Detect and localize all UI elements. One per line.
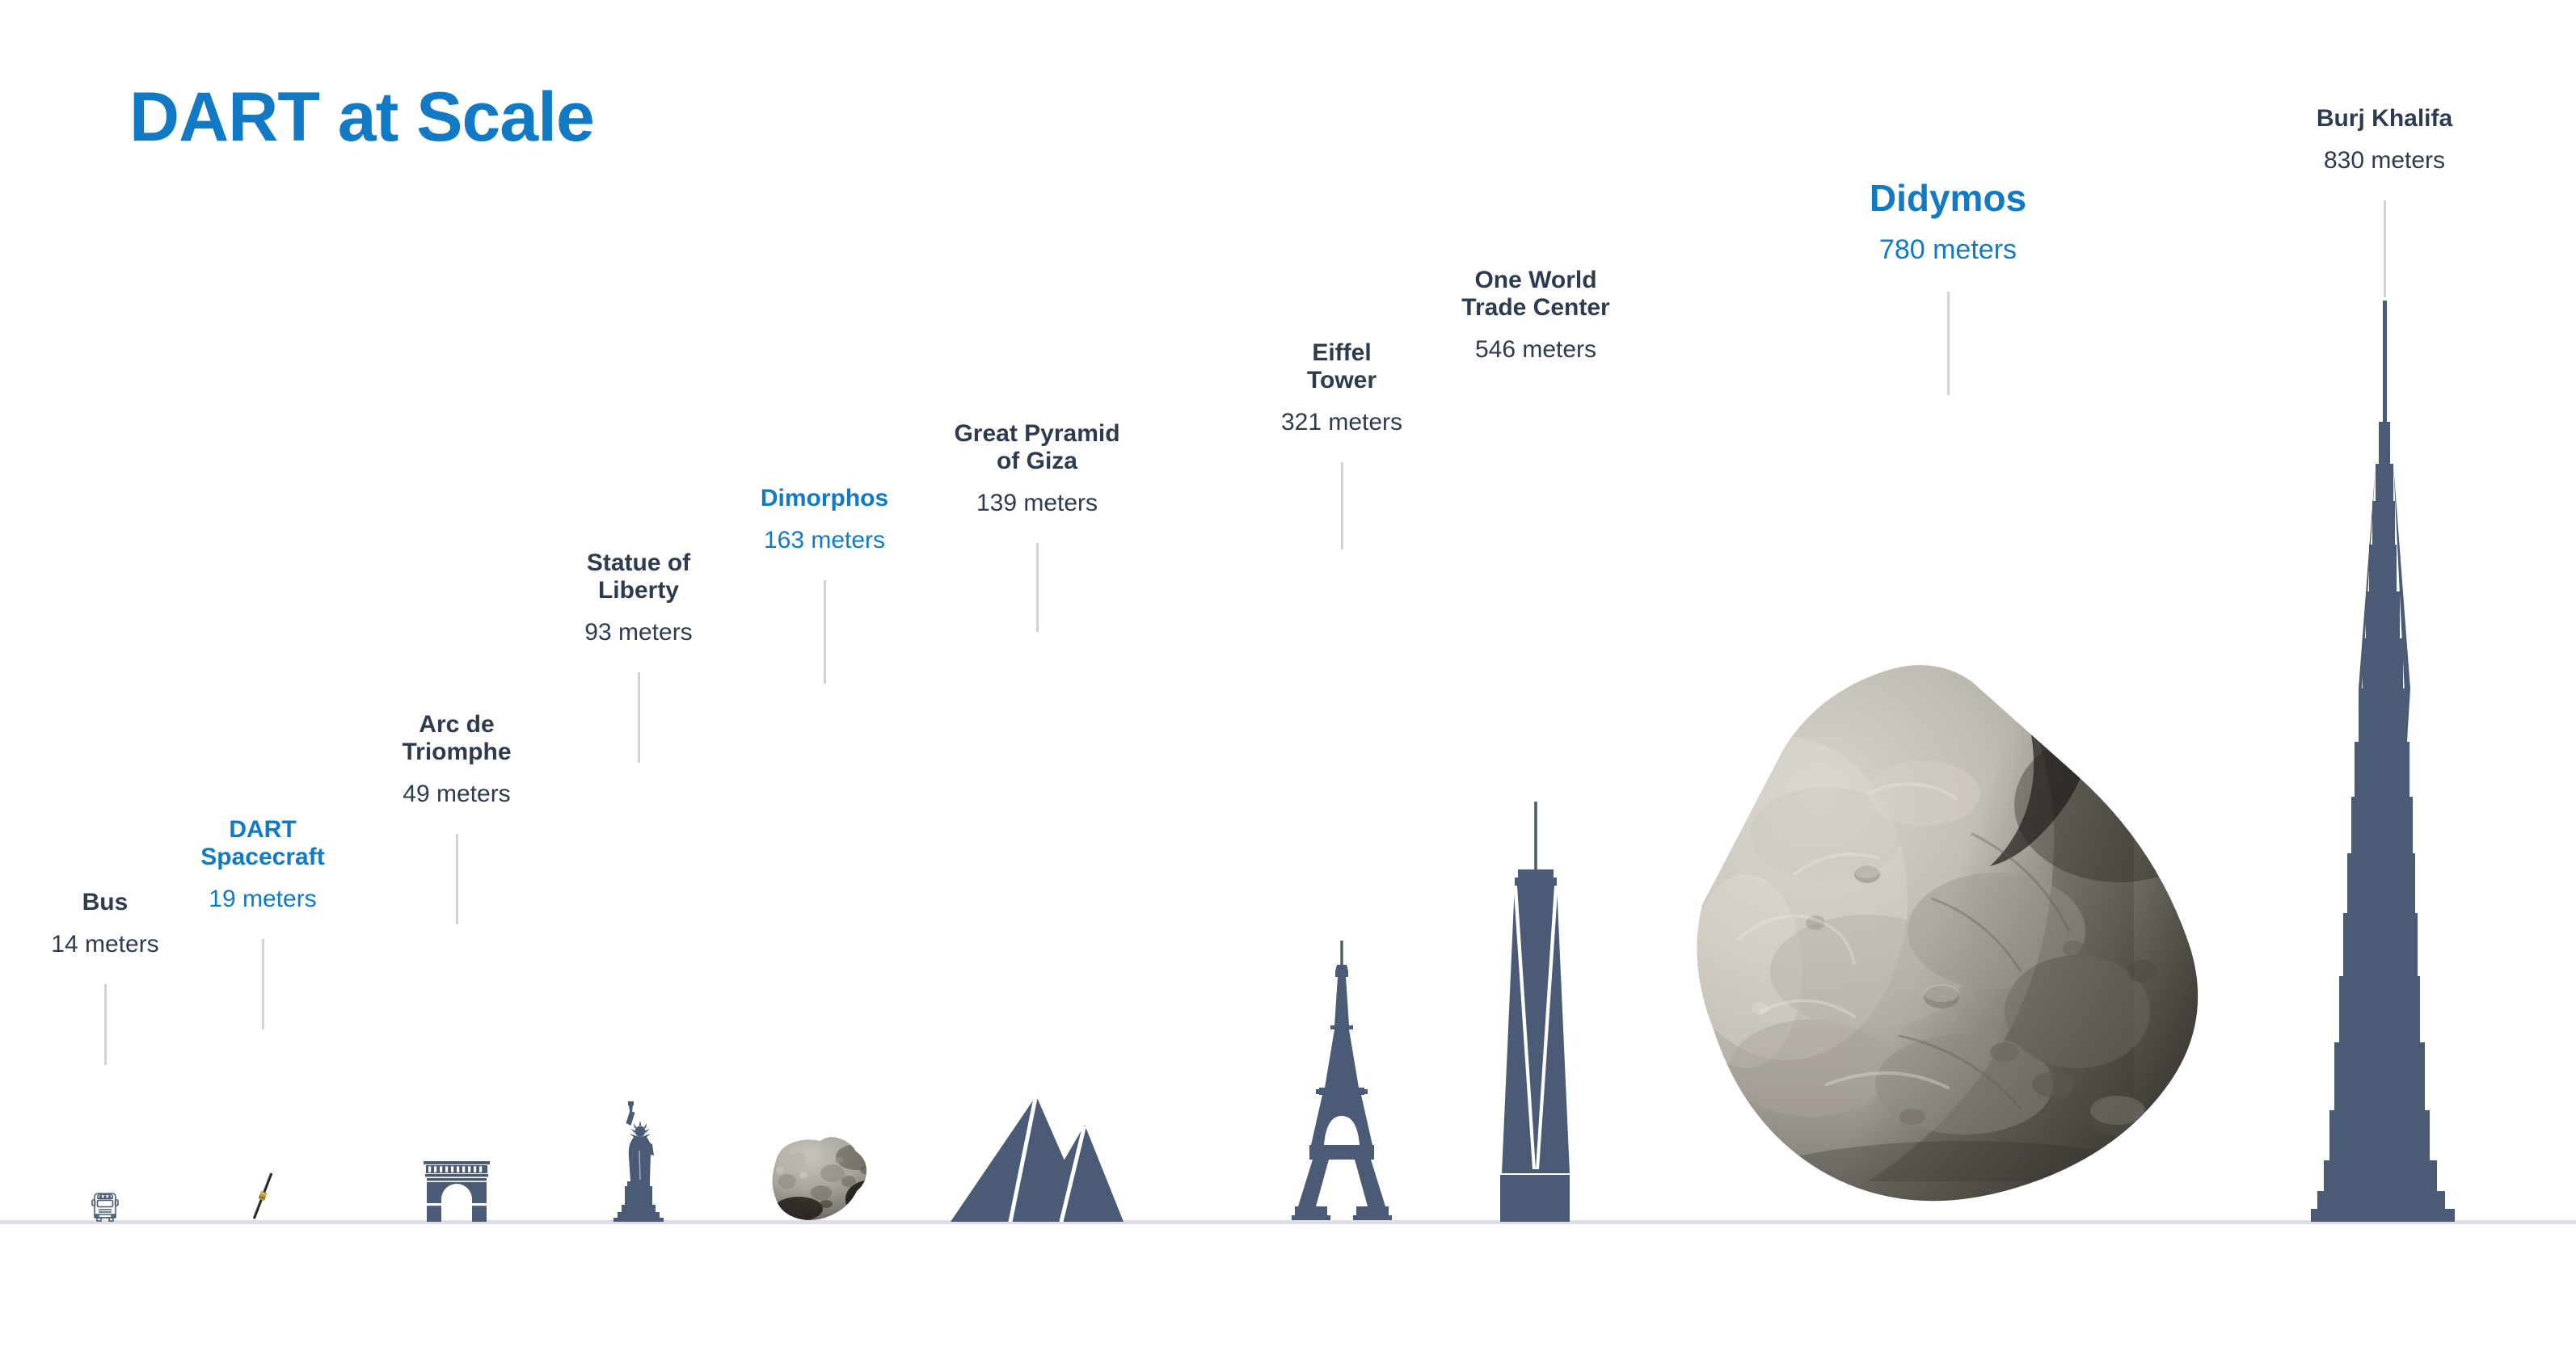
label-dimorphos: Dimorphos 163 meters bbox=[761, 470, 888, 569]
label-name: Great Pyramid of Giza bbox=[954, 420, 1119, 475]
label-meters: 139 meters bbox=[954, 490, 1119, 517]
label-meters: 49 meters bbox=[402, 781, 511, 808]
leader-line-great-pyramid-of-giza bbox=[1036, 543, 1039, 632]
burj-khalifa-icon bbox=[2308, 301, 2461, 1222]
leader-line-arc-de-triomphe bbox=[456, 834, 458, 924]
label-dart-spacecraft: DART Spacecraft 19 meters bbox=[200, 802, 324, 928]
label-name: Arc de Triomphe bbox=[402, 711, 511, 766]
one-world-trade-center-icon bbox=[1490, 802, 1581, 1222]
dart-at-scale-infographic: DART at Scale Bus 14 meters bbox=[0, 0, 2576, 1347]
page-title: DART at Scale bbox=[129, 78, 594, 158]
leader-line-burj-khalifa bbox=[2384, 200, 2386, 297]
label-name: Dimorphos bbox=[761, 485, 888, 512]
label-meters: 19 meters bbox=[200, 886, 324, 913]
label-burj-khalifa: Burj Khalifa 830 meters bbox=[2317, 91, 2452, 189]
scale-item-great-pyramid-of-giza[interactable]: Great Pyramid of Giza 139 meters bbox=[928, 406, 1146, 1222]
label-great-pyramid-of-giza: Great Pyramid of Giza 139 meters bbox=[954, 406, 1119, 532]
label-arc-de-triomphe: Arc de Triomphe 49 meters bbox=[402, 697, 511, 823]
scale-item-dimorphos[interactable]: Dimorphos 163 meters bbox=[727, 470, 921, 1222]
label-meters: 93 meters bbox=[584, 619, 692, 646]
label-bus: Bus 14 meters bbox=[51, 874, 158, 973]
label-meters: 830 meters bbox=[2317, 147, 2452, 175]
scale-item-statue-of-liberty[interactable]: Statue of Liberty 93 meters bbox=[550, 535, 727, 1222]
leader-line-bus bbox=[104, 984, 107, 1065]
eiffel-tower-icon bbox=[1288, 939, 1395, 1222]
label-name: DART Spacecraft bbox=[200, 816, 324, 871]
leader-line-dart-spacecraft bbox=[262, 939, 264, 1029]
label-name: Statue of Liberty bbox=[584, 549, 692, 604]
label-statue-of-liberty: Statue of Liberty 93 meters bbox=[584, 535, 692, 661]
label-meters: 546 meters bbox=[1461, 336, 1609, 364]
label-meters: 780 meters bbox=[1870, 234, 2026, 265]
leader-line-dimorphos bbox=[824, 580, 826, 684]
label-meters: 14 meters bbox=[51, 931, 158, 958]
scale-item-didymos[interactable]: Didymos 780 meters bbox=[1617, 163, 2279, 1222]
label-one-world-trade-center: One World Trade Center 546 meters bbox=[1461, 252, 1609, 378]
leader-line-statue-of-liberty bbox=[638, 672, 640, 763]
scale-item-burj-khalifa[interactable]: Burj Khalifa 830 meters bbox=[2231, 91, 2538, 1222]
scale-item-bus[interactable]: Bus 14 meters bbox=[24, 874, 186, 1222]
leader-line-didymos bbox=[1947, 292, 1950, 395]
label-name: Bus bbox=[51, 889, 158, 916]
label-name: Burj Khalifa bbox=[2317, 105, 2452, 133]
statue-of-liberty-icon bbox=[609, 1099, 668, 1222]
label-meters: 321 meters bbox=[1281, 409, 1402, 436]
arc-de-triomphe-icon bbox=[422, 1160, 491, 1222]
great-pyramid-icon bbox=[949, 1092, 1125, 1222]
didymos-asteroid-icon bbox=[1625, 632, 2271, 1222]
label-name: Didymos bbox=[1870, 178, 2026, 220]
label-name: One World Trade Center bbox=[1461, 267, 1609, 322]
scale-item-eiffel-tower[interactable]: Eiffel Tower 321 meters bbox=[1245, 325, 1439, 1222]
label-eiffel-tower: Eiffel Tower 321 meters bbox=[1281, 325, 1402, 451]
scale-item-one-world-trade-center[interactable]: One World Trade Center 546 meters bbox=[1431, 252, 1641, 1222]
label-didymos: Didymos 780 meters bbox=[1870, 163, 2026, 280]
bus-icon bbox=[87, 1189, 123, 1222]
dart-spacecraft-icon bbox=[238, 1170, 287, 1222]
label-meters: 163 meters bbox=[761, 527, 888, 554]
scale-item-dart-spacecraft[interactable]: DART Spacecraft 19 meters bbox=[182, 802, 344, 1222]
leader-line-eiffel-tower bbox=[1341, 462, 1343, 549]
label-name: Eiffel Tower bbox=[1281, 339, 1402, 394]
dimorphos-asteroid-icon bbox=[752, 1128, 897, 1222]
scale-item-arc-de-triomphe[interactable]: Arc de Triomphe 49 meters bbox=[364, 697, 550, 1222]
